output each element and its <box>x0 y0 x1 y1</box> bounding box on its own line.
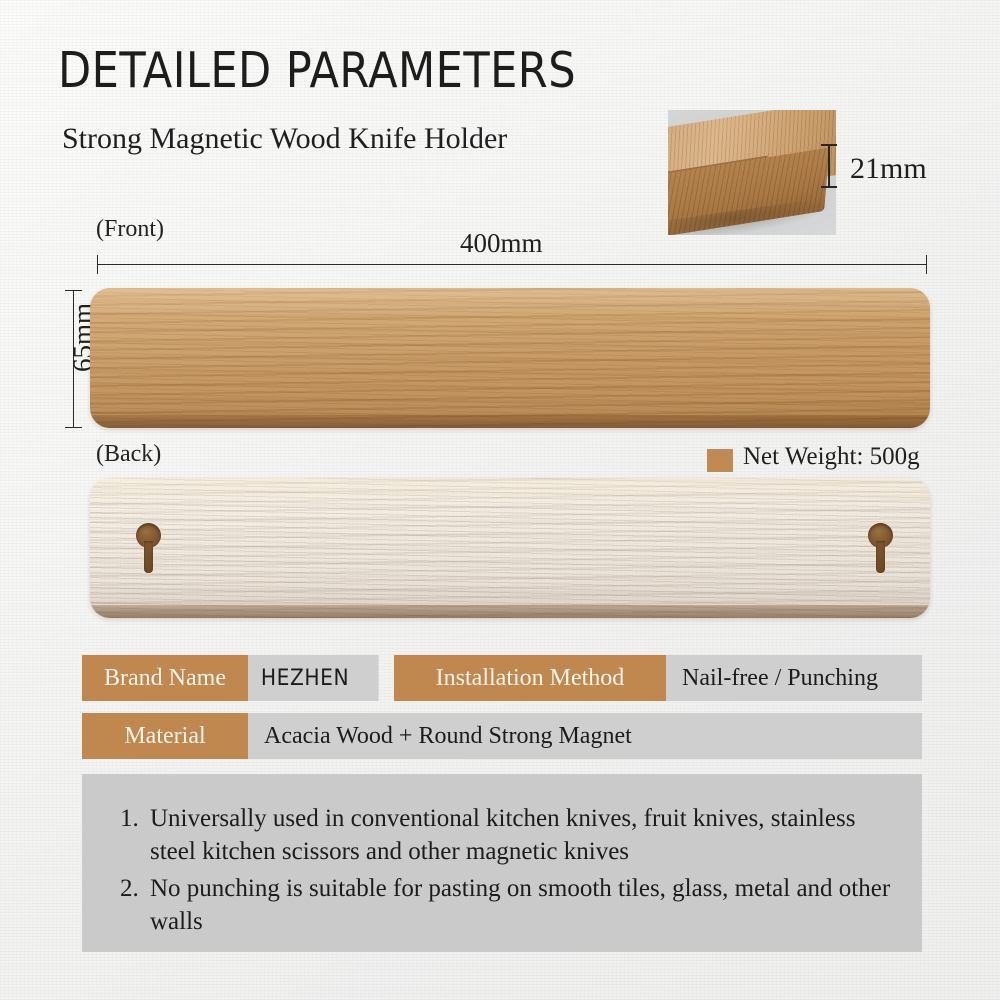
front-view-label: (Front) <box>96 216 164 243</box>
keyhole-slot-channel <box>144 541 153 573</box>
wood-bottom-edge <box>90 415 930 428</box>
product-thickness-photo <box>668 110 836 235</box>
note-number: 1. <box>120 802 150 835</box>
usage-note-item: 1. Universally used in conventional kitc… <box>120 802 900 868</box>
thickness-tick-bottom <box>821 186 837 188</box>
note-text: Universally used in conventional kitchen… <box>150 802 900 868</box>
thickness-tick-top <box>821 144 837 146</box>
keyhole-slot-channel <box>876 541 885 573</box>
spec-value-installation-method: Nail-free / Punching <box>666 655 922 701</box>
wood-bottom-edge <box>90 605 930 618</box>
width-tick-right <box>926 255 927 274</box>
back-view-label: (Back) <box>96 441 161 468</box>
width-tick-left <box>97 255 98 274</box>
note-number: 2. <box>120 872 150 905</box>
page-title: DETAILED PARAMETERS <box>58 42 576 99</box>
width-dimension-line <box>97 264 927 265</box>
height-tick-bottom <box>65 427 82 428</box>
note-text: No punching is suitable for pasting on s… <box>150 872 900 938</box>
knife-holder-back-view <box>90 478 930 618</box>
net-weight-swatch-icon <box>707 449 733 472</box>
usage-note-item: 2. No punching is suitable for pasting o… <box>120 872 900 938</box>
spec-value-brand-name: HEZHEN <box>248 655 379 701</box>
knife-holder-front-view <box>90 288 930 428</box>
wood-highlight-overlay <box>90 288 930 428</box>
net-weight-label: Net Weight: 500g <box>743 443 920 471</box>
thickness-dimension-line <box>828 144 830 188</box>
spec-label-brand-name: Brand Name <box>82 655 248 701</box>
usage-notes-panel: 1. Universally used in conventional kitc… <box>82 774 922 952</box>
width-dimension-label: 400mm <box>460 228 543 259</box>
page-subtitle: Strong Magnetic Wood Knife Holder <box>62 122 507 156</box>
spec-label-material: Material <box>82 713 248 759</box>
spec-label-installation-method: Installation Method <box>394 655 666 701</box>
spec-value-material: Acacia Wood + Round Strong Magnet <box>248 713 922 759</box>
wood-highlight-overlay <box>90 478 930 618</box>
thickness-label: 21mm <box>850 152 927 186</box>
